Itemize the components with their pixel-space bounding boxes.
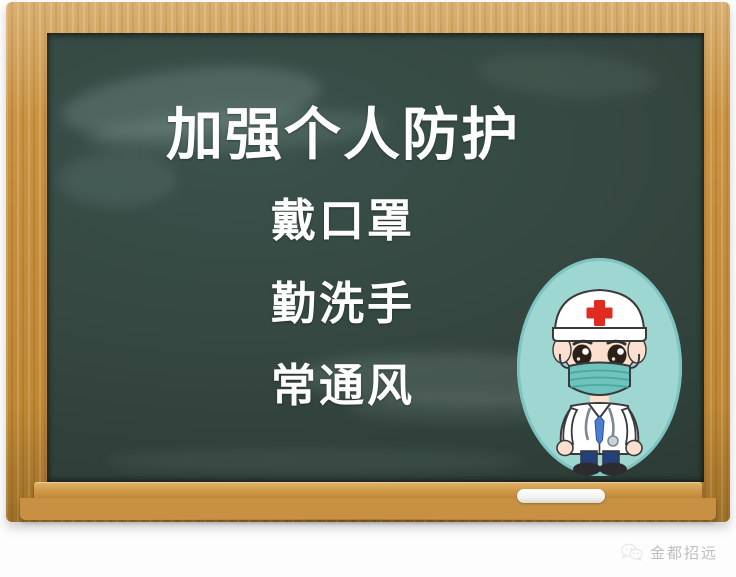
poster-headline: 加强个人防护 [47, 107, 639, 164]
doctor-mascot [517, 258, 682, 476]
watermark-account-name: 金都招远 [650, 542, 718, 563]
white-chalk-stick [517, 489, 605, 503]
doctor-illustration [517, 258, 682, 476]
watermark: 金都招远 [621, 542, 718, 563]
poster-root: 加强个人防护 戴口罩 勤洗手 常通风 [0, 0, 736, 577]
wechat-icon [621, 543, 643, 562]
poster-line-1: 戴口罩 [47, 198, 639, 243]
chalkboard-surface: 加强个人防护 戴口罩 勤洗手 常通风 [47, 33, 704, 482]
chalk-tray-lip [20, 498, 716, 520]
board-drop-shadow [46, 519, 690, 527]
